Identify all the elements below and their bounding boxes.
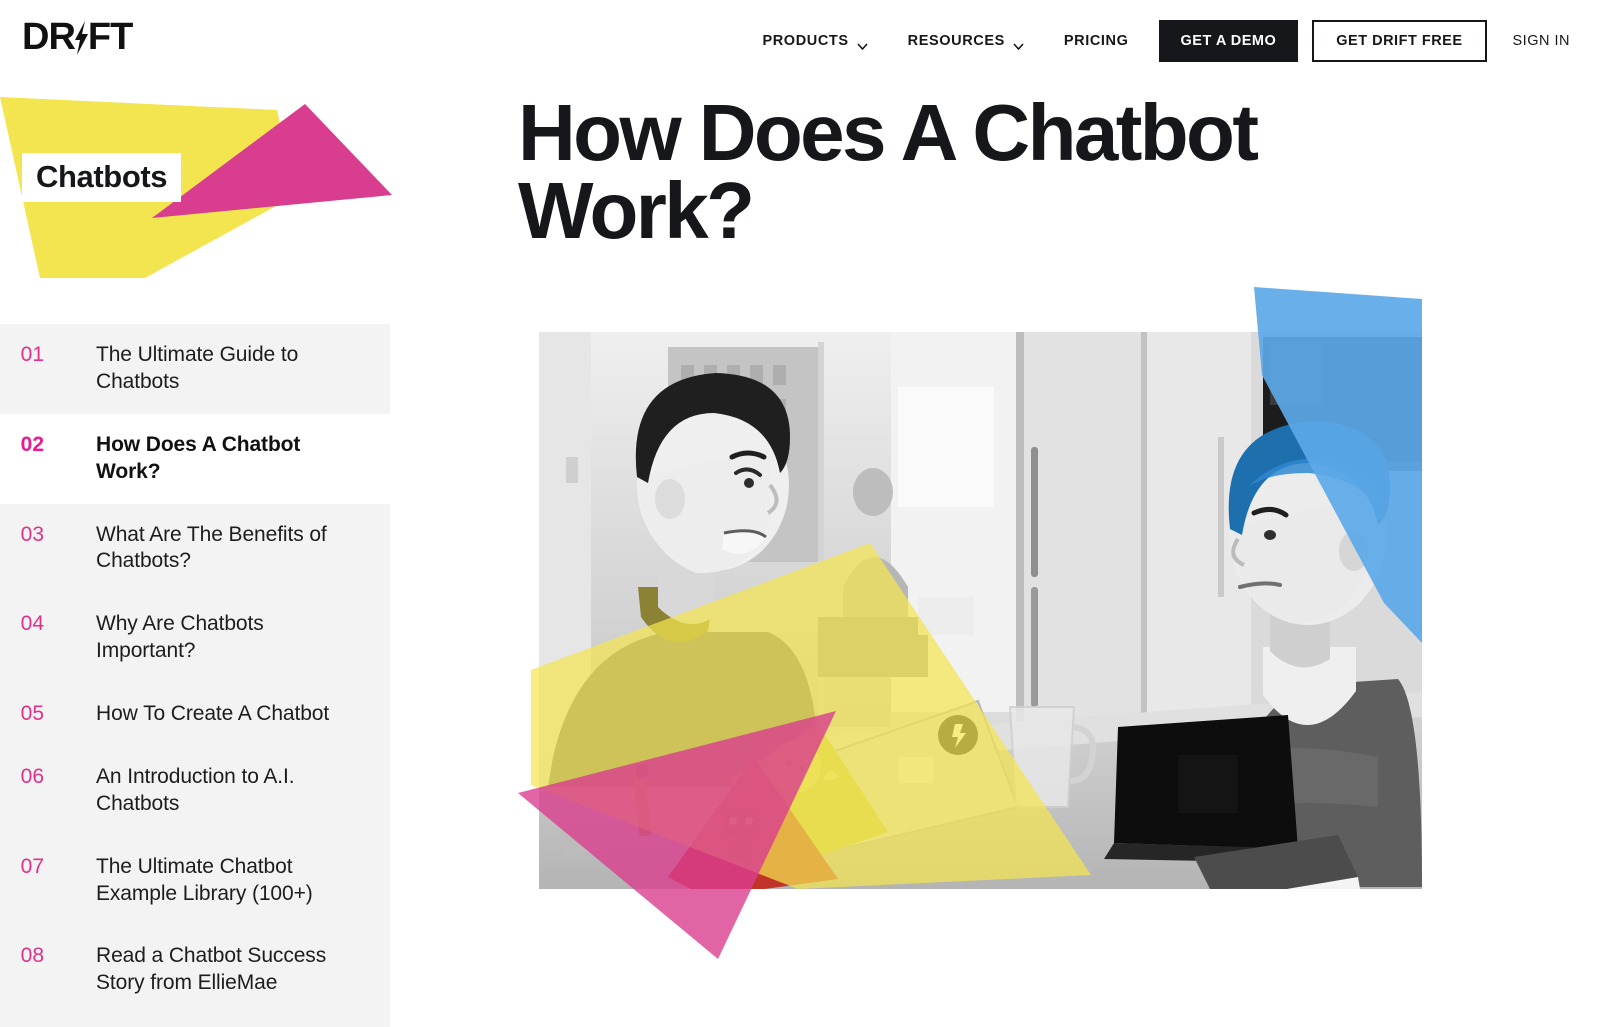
sidebar-item-02-label: How Does A Chatbot Work?: [96, 432, 364, 486]
sidebar-item-04-number: 04: [0, 611, 96, 638]
nav-item-pricing-label: PRICING: [1064, 33, 1129, 49]
top-navigation-bar: DR FT PRODUCTS RESOURCES: [0, 0, 1600, 82]
sidebar-item-04-label: Why Are Chatbots Important?: [96, 611, 364, 665]
hero-illustration: [518, 287, 1578, 987]
chevron-down-icon: [857, 38, 868, 45]
sidebar-item-03[interactable]: 03 What Are The Benefits of Chatbots?: [0, 504, 390, 594]
sidebar-item-01-label: The Ultimate Guide to Chatbots: [96, 342, 364, 396]
nav-item-resources[interactable]: RESOURCES: [888, 33, 1044, 49]
sidebar-item-08-number: 08: [0, 943, 96, 970]
lightning-bolt-icon: [74, 20, 89, 54]
page-title: How Does A Chatbot Work?: [518, 94, 1378, 249]
sidebar-item-06-label: An Introduction to A.I. Chatbots: [96, 764, 364, 818]
sidebar-item-05[interactable]: 05 How To Create A Chatbot: [0, 683, 390, 746]
sidebar-item-02[interactable]: 02 How Does A Chatbot Work?: [0, 414, 390, 504]
black-laptop: [1104, 715, 1318, 863]
nav-item-pricing[interactable]: PRICING: [1044, 33, 1149, 49]
get-a-demo-button[interactable]: GET A DEMO: [1159, 20, 1299, 62]
sidebar-item-09[interactable]: 09 Learn more about Drift's chatbot soft…: [0, 1015, 390, 1027]
sidebar-item-03-number: 03: [0, 522, 96, 549]
chatbots-badge-label: Chatbots: [22, 153, 181, 202]
nav-right-group: PRODUCTS RESOURCES PRICING GET A DEMO GE…: [742, 0, 1584, 82]
sign-in-link[interactable]: SIGN IN: [1487, 33, 1584, 49]
get-drift-free-button[interactable]: GET DRIFT FREE: [1312, 20, 1486, 62]
sidebar: Chatbots 01 The Ultimate Guide to Chatbo…: [0, 82, 390, 1027]
sidebar-item-07[interactable]: 07 The Ultimate Chatbot Example Library …: [0, 836, 390, 926]
main-content: How Does A Chatbot Work?: [390, 82, 1600, 1027]
sidebar-item-07-label: The Ultimate Chatbot Example Library (10…: [96, 854, 364, 908]
sidebar-item-05-number: 05: [0, 701, 96, 728]
logo-text-after: FT: [88, 18, 132, 56]
logo-text-before: DR: [22, 18, 75, 56]
sidebar-item-08-label: Read a Chatbot Success Story from EllieM…: [96, 943, 364, 997]
chevron-down-icon: [1013, 38, 1024, 45]
nav-item-resources-label: RESOURCES: [908, 33, 1005, 49]
sidebar-item-06-number: 06: [0, 764, 96, 791]
sidebar-item-05-label: How To Create A Chatbot: [96, 701, 329, 728]
sidebar-item-01[interactable]: 01 The Ultimate Guide to Chatbots: [0, 324, 390, 414]
sidebar-item-01-number: 01: [0, 342, 96, 369]
sidebar-item-08[interactable]: 08 Read a Chatbot Success Story from Ell…: [0, 925, 390, 1015]
drift-logo[interactable]: DR FT: [22, 18, 132, 56]
table-of-contents: 01 The Ultimate Guide to Chatbots 02 How…: [0, 324, 390, 1027]
sidebar-item-03-label: What Are The Benefits of Chatbots?: [96, 522, 364, 576]
page-root: DR FT PRODUCTS RESOURCES: [0, 0, 1600, 1027]
nav-item-products[interactable]: PRODUCTS: [742, 33, 887, 49]
sidebar-item-04[interactable]: 04 Why Are Chatbots Important?: [0, 593, 390, 683]
hero-composite: [518, 287, 1578, 987]
sidebar-item-07-number: 07: [0, 854, 96, 881]
sidebar-item-06[interactable]: 06 An Introduction to A.I. Chatbots: [0, 746, 390, 836]
sidebar-item-02-number: 02: [0, 432, 96, 459]
nav-item-products-label: PRODUCTS: [762, 33, 848, 49]
